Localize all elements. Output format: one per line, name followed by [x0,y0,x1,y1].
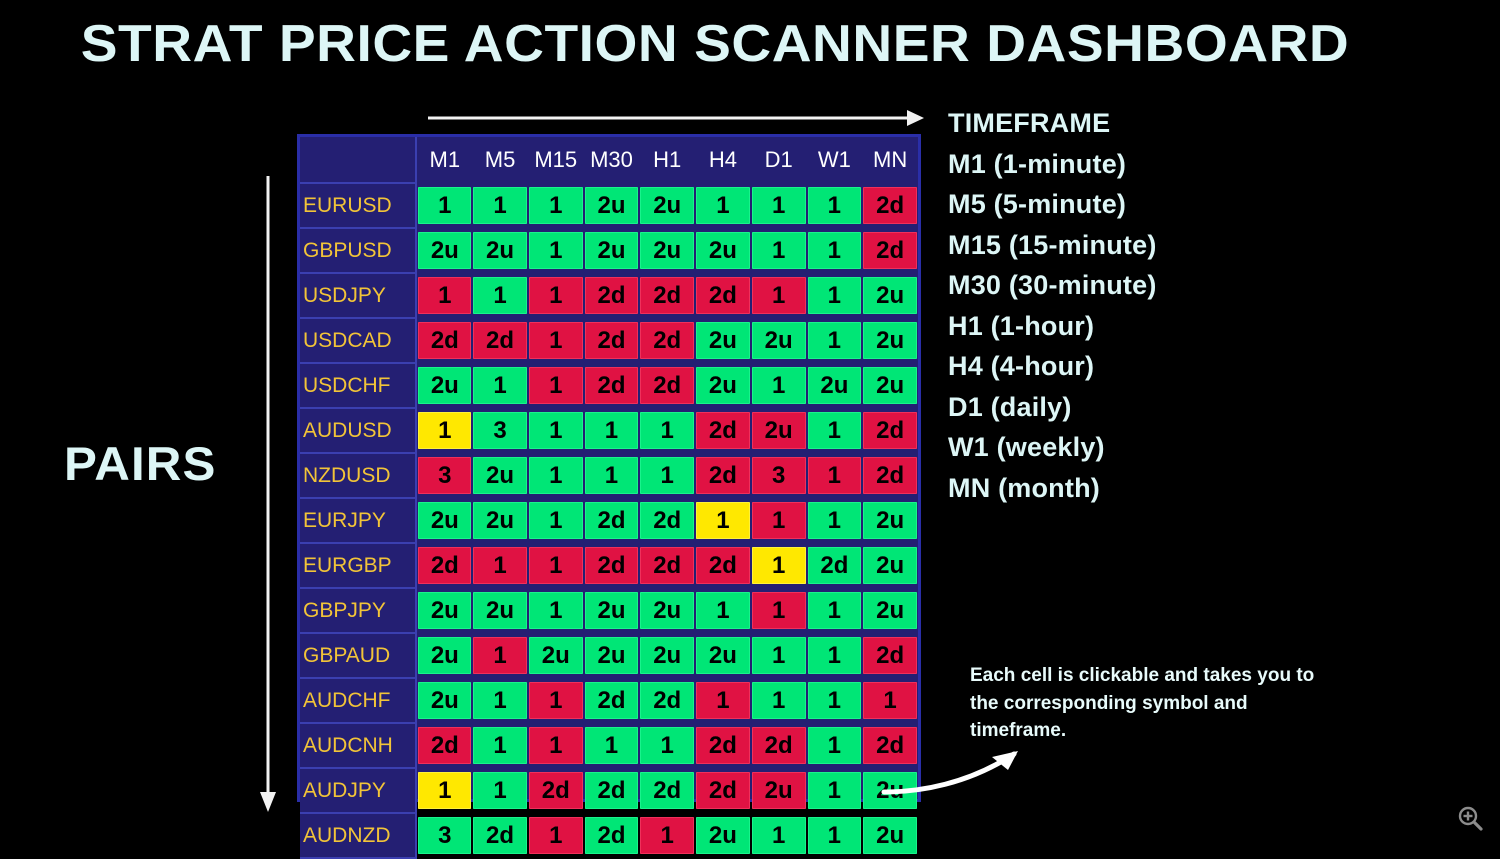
scanner-cell-value: 2u [752,412,806,449]
scanner-cell-value: 2u [696,637,750,674]
timeframe-legend-item: W1 (weekly) [948,427,1448,468]
scanner-cell-value: 1 [808,412,862,449]
corner-header [300,137,416,183]
scanner-cell-value: 1 [752,817,806,854]
scanner-cell-eurjpy-m15[interactable]: 1 [528,498,584,543]
pair-label-audusd[interactable]: AUDUSD [300,408,416,453]
scanner-cell-audcnh-m1[interactable]: 2d [416,723,472,768]
scanner-cell-value: 2d [585,772,639,809]
scanner-cell-gbpjpy-h4[interactable]: 1 [695,588,751,633]
table-row: USDCHF2u112d2d2u12u2u [300,363,918,408]
scanner-cell-audusd-h4[interactable]: 2d [695,408,751,453]
scanner-cell-value: 2d [863,187,917,224]
scanner-cell-value: 1 [696,502,750,539]
scanner-cell-value: 1 [529,592,583,629]
scanner-cell-value: 2u [473,232,527,269]
pair-label-nzdusd[interactable]: NZDUSD [300,453,416,498]
scanner-cell-audjpy-m15[interactable]: 2d [528,768,584,813]
scanner-cell-audjpy-h4[interactable]: 2d [695,768,751,813]
scanner-cell-value: 2d [640,322,694,359]
scanner-cell-value: 2u [473,592,527,629]
scanner-cell-usdcad-m30[interactable]: 2d [584,318,640,363]
pair-label-eurgbp[interactable]: EURGBP [300,543,416,588]
callout-note: Each cell is clickable and takes you tot… [970,662,1370,745]
scanner-cell-audcnh-w1[interactable]: 1 [807,723,863,768]
scanner-cell-usdchf-d1[interactable]: 1 [751,363,807,408]
callout-line: Each cell is clickable and takes you to [970,662,1370,690]
scanner-cell-eurjpy-h4[interactable]: 1 [695,498,751,543]
scanner-cell-value: 1 [529,232,583,269]
scanner-cell-audcnh-m5[interactable]: 1 [472,723,528,768]
pair-label-gbpaud[interactable]: GBPAUD [300,633,416,678]
scanner-cell-eurusd-w1[interactable]: 1 [807,183,863,228]
scanner-cell-eurusd-h4[interactable]: 1 [695,183,751,228]
scanner-cell-gbpaud-m1[interactable]: 2u [416,633,472,678]
scanner-cell-gbpjpy-m15[interactable]: 1 [528,588,584,633]
scanner-cell-usdchf-m1[interactable]: 2u [416,363,472,408]
scanner-cell-audchf-w1[interactable]: 1 [807,678,863,723]
scanner-cell-usdjpy-m15[interactable]: 1 [528,273,584,318]
scanner-cell-audchf-mn[interactable]: 1 [862,678,918,723]
scanner-cell-value: 1 [696,187,750,224]
scanner-cell-value: 1 [529,367,583,404]
scanner-cell-value: 2d [640,682,694,719]
scanner-cell-usdjpy-mn[interactable]: 2u [862,273,918,318]
scanner-cell-gbpjpy-d1[interactable]: 1 [751,588,807,633]
scanner-cell-gbpaud-w1[interactable]: 1 [807,633,863,678]
scanner-cell-gbpusd-mn[interactable]: 2d [862,228,918,273]
scanner-cell-audusd-m5[interactable]: 3 [472,408,528,453]
scanner-cell-value: 1 [529,277,583,314]
scanner-cell-value: 3 [418,457,471,494]
scanner-cell-value: 1 [808,232,862,269]
scanner-cell-value: 1 [473,367,527,404]
scanner-cell-value: 1 [529,322,583,359]
scanner-cell-value: 1 [473,277,527,314]
table-row: AUDJPY112d2d2d2d2u12u [300,768,918,813]
column-header-w1: W1 [807,137,863,183]
scanner-cell-audjpy-w1[interactable]: 1 [807,768,863,813]
pair-label-eurjpy[interactable]: EURJPY [300,498,416,543]
scanner-cell-gbpaud-h4[interactable]: 2u [695,633,751,678]
scanner-cell-value: 1 [418,277,471,314]
table-row: EURJPY2u2u12d2d1112u [300,498,918,543]
scanner-cell-usdjpy-h4[interactable]: 2d [695,273,751,318]
scanner-cell-value: 2u [418,367,471,404]
column-header-m1: M1 [416,137,472,183]
scanner-cell-eurjpy-d1[interactable]: 1 [751,498,807,543]
scanner-cell-audchf-h4[interactable]: 1 [695,678,751,723]
scanner-cell-gbpaud-m5[interactable]: 1 [472,633,528,678]
scanner-cell-gbpjpy-w1[interactable]: 1 [807,588,863,633]
table-row: EURUSD1112u2u1112d [300,183,918,228]
scanner-cell-audjpy-d1[interactable]: 2u [751,768,807,813]
scanner-cell-audchf-h1[interactable]: 2d [639,678,695,723]
pair-label-eurusd[interactable]: EURUSD [300,183,416,228]
scanner-cell-eurusd-m5[interactable]: 1 [472,183,528,228]
scanner-cell-value: 2u [640,232,694,269]
scanner-cell-value: 1 [752,637,806,674]
scanner-cell-usdcad-m1[interactable]: 2d [416,318,472,363]
scanner-cell-value: 2u [418,502,471,539]
scanner-cell-value: 2d [696,772,750,809]
scanner-cell-usdcad-mn[interactable]: 2u [862,318,918,363]
scanner-cell-value: 1 [808,637,862,674]
scanner-cell-value: 2u [418,637,471,674]
scanner-cell-gbpusd-m15[interactable]: 1 [528,228,584,273]
zoom-in-icon[interactable] [1456,804,1486,834]
scanner-cell-eurjpy-m30[interactable]: 2d [584,498,640,543]
scanner-cell-usdchf-w1[interactable]: 2u [807,363,863,408]
scanner-cell-value: 2d [640,367,694,404]
scanner-cell-eurgbp-m5[interactable]: 1 [472,543,528,588]
scanner-cell-value: 2u [585,592,639,629]
scanner-cell-gbpusd-h1[interactable]: 2u [639,228,695,273]
scanner-cell-value: 2d [640,772,694,809]
scanner-cell-gbpaud-mn[interactable]: 2d [862,633,918,678]
pair-label-audcnh[interactable]: AUDCNH [300,723,416,768]
scanner-cell-usdjpy-w1[interactable]: 1 [807,273,863,318]
scanner-cell-value: 1 [529,412,583,449]
scanner-cell-value: 2d [696,457,750,494]
scanner-cell-gbpaud-h1[interactable]: 2u [639,633,695,678]
scanner-cell-gbpusd-m1[interactable]: 2u [416,228,472,273]
scanner-cell-value: 1 [752,187,806,224]
scanner-cell-usdchf-mn[interactable]: 2u [862,363,918,408]
scanner-cell-value: 1 [529,682,583,719]
scanner-cell-audusd-h1[interactable]: 1 [639,408,695,453]
scanner-cell-gbpjpy-m30[interactable]: 2u [584,588,640,633]
timeframe-legend-item: H1 (1-hour) [948,306,1448,347]
column-header-h4: H4 [695,137,751,183]
scanner-cell-gbpjpy-m1[interactable]: 2u [416,588,472,633]
scanner-cell-value: 2u [473,457,527,494]
scanner-cell-eurjpy-mn[interactable]: 2u [862,498,918,543]
scanner-cell-gbpjpy-h1[interactable]: 2u [639,588,695,633]
scanner-cell-value: 1 [473,547,527,584]
scanner-cell-eurgbp-h4[interactable]: 2d [695,543,751,588]
scanner-cell-value: 2u [863,772,917,809]
table-row: NZDUSD32u1112d312d [300,453,918,498]
scanner-cell-value: 2d [585,322,639,359]
scanner-cell-value: 2d [418,547,471,584]
scanner-cell-audnzd-mn[interactable]: 2u [862,813,918,858]
scanner-grid-panel: M1M5M15M30H1H4D1W1MN EURUSD1112u2u1112dG… [297,134,921,802]
table-row: AUDNZD32d12d12u112u [300,813,918,858]
scanner-cell-value: 1 [473,187,527,224]
table-row: AUDCHF2u112d2d1111 [300,678,918,723]
scanner-cell-value: 2d [640,502,694,539]
scanner-cell-eurusd-h1[interactable]: 2u [639,183,695,228]
scanner-cell-value: 2u [863,277,917,314]
scanner-cell-value: 1 [529,457,583,494]
scanner-cell-eurgbp-mn[interactable]: 2u [862,543,918,588]
scanner-cell-value: 2u [473,502,527,539]
scanner-cell-value: 2u [696,232,750,269]
scanner-cell-value: 2u [640,187,694,224]
scanner-cell-value: 2d [418,727,471,764]
scanner-cell-value: 2u [863,322,917,359]
scanner-cell-value: 2d [863,637,917,674]
scanner-cell-gbpusd-m5[interactable]: 2u [472,228,528,273]
scanner-cell-audnzd-h1[interactable]: 1 [639,813,695,858]
scanner-cell-audnzd-d1[interactable]: 1 [751,813,807,858]
scanner-cell-value: 2d [585,547,639,584]
scanner-cell-usdchf-m30[interactable]: 2d [584,363,640,408]
scanner-cell-value: 2d [585,277,639,314]
scanner-cell-gbpusd-m30[interactable]: 2u [584,228,640,273]
scanner-cell-eurgbp-w1[interactable]: 2d [807,543,863,588]
scanner-cell-value: 3 [418,817,471,854]
scanner-cell-value: 1 [696,592,750,629]
table-row: GBPAUD2u12u2u2u2u112d [300,633,918,678]
scanner-cell-nzdusd-w1[interactable]: 1 [807,453,863,498]
scanner-cell-value: 2u [863,817,917,854]
scanner-cell-value: 1 [752,232,806,269]
scanner-cell-value: 1 [585,412,639,449]
scanner-cell-audjpy-mn[interactable]: 2u [862,768,918,813]
scanner-cell-value: 2d [640,547,694,584]
scanner-cell-value: 1 [418,772,471,809]
scanner-cell-value: 2u [863,592,917,629]
scanner-cell-audcnh-h1[interactable]: 1 [639,723,695,768]
scanner-cell-usdchf-h4[interactable]: 2u [695,363,751,408]
scanner-cell-eurjpy-m1[interactable]: 2u [416,498,472,543]
scanner-cell-value: 2d [863,727,917,764]
scanner-cell-audjpy-h1[interactable]: 2d [639,768,695,813]
scanner-cell-value: 1 [808,322,862,359]
pair-label-usdjpy[interactable]: USDJPY [300,273,416,318]
pair-label-usdchf[interactable]: USDCHF [300,363,416,408]
scanner-cell-gbpusd-d1[interactable]: 1 [751,228,807,273]
pairs-axis-label: PAIRS [64,436,216,491]
scanner-cell-value: 1 [752,682,806,719]
scanner-cell-usdjpy-m30[interactable]: 2d [584,273,640,318]
scanner-cell-usdcad-w1[interactable]: 1 [807,318,863,363]
scanner-cell-value: 1 [473,682,527,719]
scanner-cell-value: 1 [752,592,806,629]
scanner-cell-value: 2d [585,367,639,404]
scanner-cell-value: 1 [418,187,471,224]
scanner-cell-value: 2u [418,232,471,269]
scanner-cell-nzdusd-mn[interactable]: 2d [862,453,918,498]
scanner-cell-usdjpy-m1[interactable]: 1 [416,273,472,318]
scanner-cell-audjpy-m5[interactable]: 1 [472,768,528,813]
scanner-cell-value: 1 [808,817,862,854]
scanner-cell-value: 2u [585,187,639,224]
scanner-cell-usdcad-h1[interactable]: 2d [639,318,695,363]
scanner-cell-value: 2u [529,637,583,674]
scanner-cell-value: 1 [529,187,583,224]
column-header-m15: M15 [528,137,584,183]
scanner-cell-nzdusd-h1[interactable]: 1 [639,453,695,498]
scanner-cell-audcnh-h4[interactable]: 2d [695,723,751,768]
scanner-cell-audusd-m1[interactable]: 1 [416,408,472,453]
timeframe-legend-items: M1 (1-minute)M5 (5-minute)M15 (15-minute… [948,144,1448,509]
scanner-cell-value: 2u [696,322,750,359]
scanner-cell-usdjpy-h1[interactable]: 2d [639,273,695,318]
scanner-cell-value: 1 [640,727,694,764]
pair-label-gbpusd[interactable]: GBPUSD [300,228,416,273]
scanner-cell-value: 1 [752,367,806,404]
scanner-cell-usdcad-h4[interactable]: 2u [695,318,751,363]
scanner-cell-audnzd-w1[interactable]: 1 [807,813,863,858]
scanner-cell-eurjpy-m5[interactable]: 2u [472,498,528,543]
scanner-cell-value: 2d [696,277,750,314]
scanner-cell-audchf-m30[interactable]: 2d [584,678,640,723]
table-row: GBPJPY2u2u12u2u1112u [300,588,918,633]
scanner-cell-audjpy-m30[interactable]: 2d [584,768,640,813]
scanner-cell-audcnh-m30[interactable]: 1 [584,723,640,768]
scanner-cell-value: 1 [529,547,583,584]
scanner-cell-eurjpy-h1[interactable]: 2d [639,498,695,543]
scanner-cell-audchf-d1[interactable]: 1 [751,678,807,723]
scanner-cell-usdcad-m15[interactable]: 1 [528,318,584,363]
scanner-cell-value: 1 [640,412,694,449]
scanner-cell-eurjpy-w1[interactable]: 1 [807,498,863,543]
scanner-cell-gbpaud-m15[interactable]: 2u [528,633,584,678]
scanner-cell-audchf-m5[interactable]: 1 [472,678,528,723]
scanner-cell-usdchf-m5[interactable]: 1 [472,363,528,408]
scanner-cell-value: 1 [473,727,527,764]
scanner-cell-audusd-w1[interactable]: 1 [807,408,863,453]
scanner-cell-audnzd-h4[interactable]: 2u [695,813,751,858]
scanner-cell-nzdusd-m1[interactable]: 3 [416,453,472,498]
scanner-cell-value: 1 [808,592,862,629]
column-header-m5: M5 [472,137,528,183]
callout-line: the corresponding symbol and [970,690,1370,718]
scanner-cell-value: 1 [529,817,583,854]
scanner-cell-value: 2d [640,277,694,314]
scanner-cell-eurgbp-m1[interactable]: 2d [416,543,472,588]
pair-label-audjpy[interactable]: AUDJPY [300,768,416,813]
scanner-cell-audusd-d1[interactable]: 2u [751,408,807,453]
scanner-cell-gbpusd-w1[interactable]: 1 [807,228,863,273]
scanner-cell-value: 1 [473,772,527,809]
scanner-cell-value: 1 [808,727,862,764]
scanner-cell-value: 2d [808,547,862,584]
scanner-cell-value: 1 [808,457,862,494]
scanner-table: M1M5M15M30H1H4D1W1MN EURUSD1112u2u1112dG… [300,137,918,859]
scanner-cell-value: 1 [529,727,583,764]
scanner-cell-usdjpy-d1[interactable]: 1 [751,273,807,318]
scanner-cell-value: 1 [863,682,917,719]
scanner-cell-usdchf-h1[interactable]: 2d [639,363,695,408]
scanner-cell-eurgbp-d1[interactable]: 1 [751,543,807,588]
scanner-cell-audcnh-m15[interactable]: 1 [528,723,584,768]
scanner-cell-eurusd-m15[interactable]: 1 [528,183,584,228]
table-row: AUDUSD131112d2u12d [300,408,918,453]
scanner-cell-audchf-m15[interactable]: 1 [528,678,584,723]
scanner-cell-nzdusd-d1[interactable]: 3 [751,453,807,498]
scanner-cell-value: 2d [585,682,639,719]
scanner-cell-value: 2d [473,817,527,854]
scanner-cell-value: 2d [863,412,917,449]
scanner-cell-audchf-m1[interactable]: 2u [416,678,472,723]
scanner-cell-usdcad-m5[interactable]: 2d [472,318,528,363]
scanner-cell-usdjpy-m5[interactable]: 1 [472,273,528,318]
scanner-cell-gbpjpy-mn[interactable]: 2u [862,588,918,633]
scanner-cell-audnzd-m5[interactable]: 2d [472,813,528,858]
scanner-cell-value: 2d [529,772,583,809]
pair-label-audnzd[interactable]: AUDNZD [300,813,416,858]
timeframe-legend-item: D1 (daily) [948,387,1448,428]
scanner-cell-nzdusd-m5[interactable]: 2u [472,453,528,498]
scanner-cell-eurgbp-m15[interactable]: 1 [528,543,584,588]
scanner-cell-value: 1 [696,682,750,719]
scanner-cell-gbpjpy-m5[interactable]: 2u [472,588,528,633]
scanner-cell-value: 2u [863,547,917,584]
scanner-cell-value: 1 [808,772,862,809]
scanner-cell-eurgbp-h1[interactable]: 2d [639,543,695,588]
scanner-cell-nzdusd-h4[interactable]: 2d [695,453,751,498]
scanner-cell-gbpaud-m30[interactable]: 2u [584,633,640,678]
scanner-cell-value: 2d [696,727,750,764]
scanner-cell-value: 1 [808,502,862,539]
pairs-direction-arrow [252,170,292,818]
scanner-cell-audjpy-m1[interactable]: 1 [416,768,472,813]
scanner-cell-eurusd-mn[interactable]: 2d [862,183,918,228]
scanner-cell-audcnh-mn[interactable]: 2d [862,723,918,768]
pair-label-gbpjpy[interactable]: GBPJPY [300,588,416,633]
scanner-cell-value: 2u [752,322,806,359]
scanner-cell-audusd-m30[interactable]: 1 [584,408,640,453]
scanner-cell-value: 2u [696,817,750,854]
scanner-cell-value: 2d [696,547,750,584]
table-row: USDCAD2d2d12d2d2u2u12u [300,318,918,363]
timeframe-legend-item: MN (month) [948,468,1448,509]
pair-label-usdcad[interactable]: USDCAD [300,318,416,363]
scanner-cell-value: 2d [863,457,917,494]
table-row: EURGBP2d112d2d2d12d2u [300,543,918,588]
scanner-cell-value: 2d [863,232,917,269]
table-row: GBPUSD2u2u12u2u2u112d [300,228,918,273]
scanner-cell-eurusd-m1[interactable]: 1 [416,183,472,228]
pair-label-audchf[interactable]: AUDCHF [300,678,416,723]
scanner-cell-value: 1 [808,682,862,719]
scanner-cell-eurusd-m30[interactable]: 2u [584,183,640,228]
scanner-cell-gbpaud-d1[interactable]: 1 [751,633,807,678]
scanner-cell-nzdusd-m15[interactable]: 1 [528,453,584,498]
timeframe-legend-item: H4 (4-hour) [948,346,1448,387]
column-header-m30: M30 [584,137,640,183]
scanner-cell-gbpusd-h4[interactable]: 2u [695,228,751,273]
scanner-cell-value: 2u [752,772,806,809]
scanner-cell-value: 1 [640,817,694,854]
scanner-cell-value: 2u [640,637,694,674]
scanner-cell-value: 3 [473,412,527,449]
scanner-cell-audcnh-d1[interactable]: 2d [751,723,807,768]
scanner-cell-audnzd-m1[interactable]: 3 [416,813,472,858]
column-header-d1: D1 [751,137,807,183]
scanner-cell-usdcad-d1[interactable]: 2u [751,318,807,363]
column-header-h1: H1 [639,137,695,183]
scanner-cell-audnzd-m30[interactable]: 2d [584,813,640,858]
scanner-cell-value: 2u [585,637,639,674]
scanner-cell-value: 1 [585,727,639,764]
scanner-cell-usdchf-m15[interactable]: 1 [528,363,584,408]
scanner-cell-eurgbp-m30[interactable]: 2d [584,543,640,588]
scanner-cell-eurusd-d1[interactable]: 1 [751,183,807,228]
page-title: STRAT PRICE ACTION SCANNER DASHBOARD [0,14,1473,74]
timeframe-legend-item: M5 (5-minute) [948,184,1448,225]
scanner-cell-audusd-m15[interactable]: 1 [528,408,584,453]
scanner-cell-nzdusd-m30[interactable]: 1 [584,453,640,498]
timeframe-legend-item: M1 (1-minute) [948,144,1448,185]
scanner-cell-value: 2d [473,322,527,359]
scanner-cell-audnzd-m15[interactable]: 1 [528,813,584,858]
scanner-cell-audusd-mn[interactable]: 2d [862,408,918,453]
